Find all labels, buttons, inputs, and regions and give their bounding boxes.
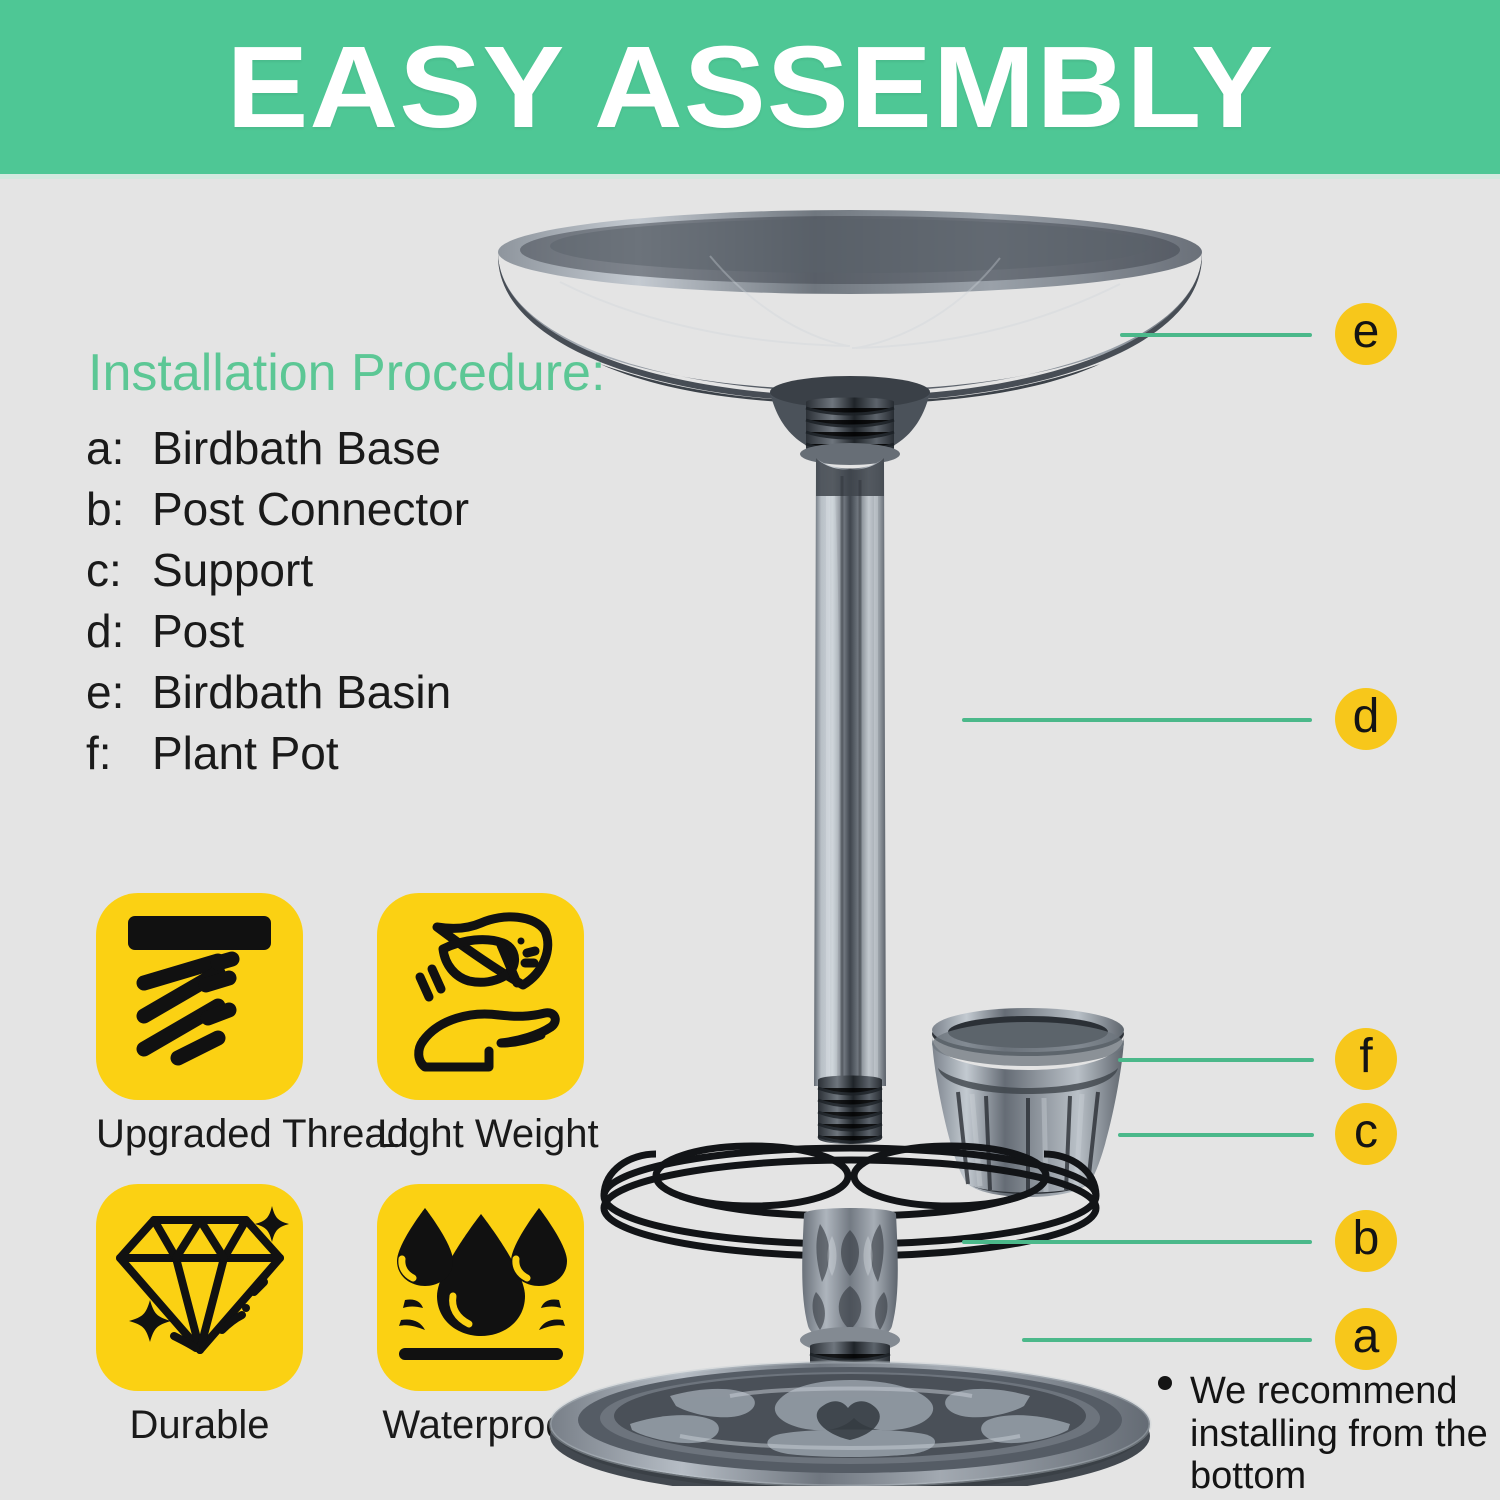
- callout-badge-label: d: [1353, 693, 1380, 741]
- diamond-icon: [96, 1184, 303, 1391]
- list-item-key: b:: [86, 479, 152, 540]
- header-banner: EASY ASSEMBLY: [0, 0, 1500, 174]
- callout-badge-label: b: [1353, 1215, 1380, 1263]
- feature-label: Upgraded Thread: [96, 1112, 303, 1156]
- callout-badge-f[interactable]: f: [1335, 1028, 1397, 1090]
- infographic-page: EASY ASSEMBLY Installation Procedure: a:…: [0, 0, 1500, 1500]
- feature-durable: Durable: [96, 1184, 303, 1447]
- plant-pot-part: [932, 1008, 1124, 1197]
- callout-line-c: [1118, 1133, 1314, 1137]
- callout-line-b: [962, 1240, 1312, 1244]
- birdbath-illustration: [480, 196, 1220, 1486]
- list-item-key: c:: [86, 540, 152, 601]
- callout-badge-a[interactable]: a: [1335, 1308, 1397, 1370]
- birdbath-base-part: [550, 1362, 1150, 1486]
- callout-line-d: [962, 718, 1312, 722]
- callout-badge-label: c: [1354, 1108, 1378, 1156]
- list-item-key: e:: [86, 662, 152, 723]
- list-item-key: d:: [86, 601, 152, 662]
- basin-thread-connector: [800, 396, 900, 465]
- installation-recommendation-note: We recommend installing from the bottom: [1160, 1370, 1490, 1498]
- feature-label: Durable: [96, 1403, 303, 1447]
- screw-thread-icon: [96, 893, 303, 1100]
- callout-line-a: [1022, 1338, 1312, 1342]
- post-part: [814, 458, 886, 1086]
- feature-tile: [96, 1184, 303, 1391]
- callout-badge-e[interactable]: e: [1335, 303, 1397, 365]
- callout-line-e: [1120, 333, 1312, 337]
- callout-badge-b[interactable]: b: [1335, 1210, 1397, 1272]
- callout-line-f: [1118, 1058, 1314, 1062]
- callout-badge-label: e: [1353, 308, 1380, 356]
- callout-badge-c[interactable]: c: [1335, 1103, 1397, 1165]
- list-item-key: a:: [86, 418, 152, 479]
- product-image-birdbath: [480, 196, 1220, 1486]
- callout-badge-label: f: [1359, 1033, 1372, 1081]
- callout-badge-label: a: [1353, 1313, 1380, 1361]
- list-item-key: f:: [86, 723, 152, 784]
- header-divider: [0, 174, 1500, 179]
- feature-tile: [96, 893, 303, 1100]
- callout-badge-d[interactable]: d: [1335, 688, 1397, 750]
- page-title: EASY ASSEMBLY: [226, 29, 1274, 145]
- post-lower-thread: [818, 1076, 882, 1145]
- feature-upgraded-thread: Upgraded Thread: [96, 893, 303, 1156]
- bullet-icon: [1158, 1376, 1172, 1390]
- note-text: We recommend installing from the bottom: [1160, 1370, 1490, 1498]
